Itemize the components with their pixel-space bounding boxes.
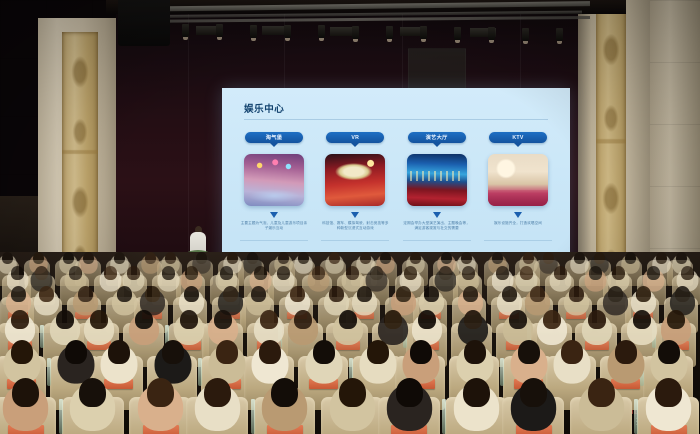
audience-member bbox=[346, 266, 359, 280]
audience-member bbox=[78, 286, 93, 302]
slide-card: VR 科技馆、赛车、模拟驾驶、射击竞技等多种新型沉浸式互动游戏 bbox=[319, 132, 391, 272]
water-bottle bbox=[251, 399, 255, 433]
seat-placard bbox=[8, 425, 44, 434]
audience-member bbox=[2, 252, 13, 264]
water-bottle bbox=[47, 358, 51, 386]
audience-member bbox=[33, 252, 44, 264]
stage-light bbox=[454, 27, 461, 40]
audience-member bbox=[11, 286, 26, 302]
stage-light bbox=[420, 26, 427, 39]
audience-member bbox=[227, 252, 238, 264]
stage-light bbox=[182, 24, 189, 37]
audience-member bbox=[675, 286, 690, 302]
water-bottle bbox=[403, 325, 407, 348]
audience-member bbox=[204, 378, 231, 407]
audience-member bbox=[329, 252, 340, 264]
audience-member bbox=[329, 286, 344, 302]
indoor-playground-photo bbox=[244, 154, 304, 206]
audience-member bbox=[83, 252, 94, 264]
card-caption: 主要主题为气泡、儿童及儿童游乐项目亲子娱乐互动 bbox=[240, 221, 308, 231]
audience-member bbox=[608, 286, 623, 302]
audience-member bbox=[569, 286, 584, 302]
stage-light bbox=[556, 28, 563, 41]
performance-hall-photo bbox=[407, 154, 467, 206]
water-bottle bbox=[442, 399, 446, 433]
audience-member bbox=[615, 340, 637, 364]
backdrop-seam bbox=[188, 0, 189, 292]
down-arrow-icon bbox=[270, 212, 278, 218]
audience-member bbox=[589, 266, 602, 280]
slide-card: KTV 娱乐设施齐全，打造欢唱空间 bbox=[482, 132, 554, 272]
audience-member bbox=[145, 286, 160, 302]
ktv-room-photo bbox=[488, 154, 548, 206]
audience-member bbox=[636, 286, 651, 302]
stage-light bbox=[386, 26, 393, 39]
audience-member bbox=[360, 252, 371, 264]
seat-placard bbox=[267, 425, 303, 434]
seat-placard bbox=[336, 341, 360, 350]
audience-member bbox=[220, 266, 233, 280]
audience-member bbox=[518, 340, 540, 364]
audience-member bbox=[254, 266, 267, 280]
audience-member bbox=[543, 310, 561, 329]
audience-member bbox=[370, 266, 383, 280]
audience-member bbox=[461, 252, 472, 264]
audience-member bbox=[63, 252, 74, 264]
stage-light bbox=[284, 25, 291, 38]
audience-member bbox=[410, 340, 432, 364]
water-bottle bbox=[198, 358, 202, 386]
water-bottle bbox=[652, 325, 656, 348]
audience-member bbox=[410, 252, 421, 264]
card-label-pill: VR bbox=[326, 132, 384, 143]
audience-member bbox=[185, 266, 198, 280]
audience-member bbox=[633, 310, 651, 329]
audience-member bbox=[554, 266, 567, 280]
audience-member bbox=[464, 310, 482, 329]
card-caption: 娱乐设施齐全，打造欢唱空间 bbox=[484, 221, 552, 226]
audience-member bbox=[11, 310, 29, 329]
audience-member bbox=[655, 378, 682, 407]
audience-member bbox=[418, 310, 436, 329]
audience-seating bbox=[0, 252, 700, 434]
audience-member bbox=[79, 378, 106, 407]
audience-member bbox=[12, 378, 39, 407]
slide-card: 演艺大厅 定期会举办大型演艺演出、主题晚会等，满足游客观赏与社交的需要 bbox=[401, 132, 473, 272]
audience-member bbox=[380, 252, 391, 264]
conference-hall-photo: 娱乐中心 淘气堡 主要主题为气泡、儿童及儿童游乐项目亲子娱乐互动 VR bbox=[0, 0, 700, 434]
audience-member bbox=[339, 310, 357, 329]
audience-member bbox=[424, 286, 439, 302]
slide-card-row: 淘气堡 主要主题为气泡、儿童及儿童游乐项目亲子娱乐互动 VR 科技馆、赛车、模拟… bbox=[238, 132, 554, 272]
vr-experience-photo bbox=[325, 154, 385, 206]
audience-member bbox=[147, 378, 174, 407]
wall-texture bbox=[650, 0, 700, 292]
seat-placard bbox=[516, 425, 552, 434]
audience-member bbox=[339, 378, 366, 407]
audience-member bbox=[509, 310, 527, 329]
stage-light bbox=[488, 27, 495, 40]
audience-member bbox=[162, 266, 175, 280]
audience-member bbox=[588, 310, 606, 329]
seat-placard bbox=[611, 379, 640, 390]
audience-member bbox=[588, 378, 615, 407]
audience-member bbox=[223, 286, 238, 302]
audience-member bbox=[367, 340, 389, 364]
water-bottle bbox=[500, 358, 504, 386]
audience-member bbox=[463, 286, 478, 302]
audience-member bbox=[658, 340, 680, 364]
audience-member bbox=[681, 266, 694, 280]
right-wall bbox=[650, 0, 700, 292]
audience-member bbox=[180, 310, 198, 329]
card-divider bbox=[403, 240, 471, 241]
audience-member bbox=[127, 266, 140, 280]
audience-member bbox=[294, 310, 312, 329]
audience-member bbox=[396, 378, 423, 407]
carving-motif bbox=[62, 32, 98, 282]
audience-member bbox=[574, 252, 585, 264]
audience-member bbox=[612, 266, 625, 280]
audience-member bbox=[441, 252, 452, 264]
audience-member bbox=[165, 252, 176, 264]
audience-member bbox=[260, 310, 278, 329]
slide-title-underline bbox=[244, 119, 548, 120]
water-bottle bbox=[634, 399, 638, 433]
audience-member bbox=[145, 252, 156, 264]
audience-member bbox=[530, 286, 545, 302]
card-label-pill: 演艺大厅 bbox=[408, 132, 466, 143]
audience-member bbox=[271, 378, 298, 407]
card-label-pill: KTV bbox=[489, 132, 547, 143]
ceiling-speaker bbox=[118, 0, 170, 46]
audience-member bbox=[69, 266, 82, 280]
audience-member bbox=[676, 252, 687, 264]
audience-member bbox=[520, 266, 533, 280]
pill-tail bbox=[433, 143, 441, 147]
audience-member bbox=[625, 252, 636, 264]
audience-member bbox=[520, 378, 547, 407]
audience-member bbox=[502, 286, 517, 302]
card-caption: 科技馆、赛车、模拟驾驶、射击竞技等多种新型沉浸式互动游戏 bbox=[321, 221, 389, 231]
seat-placard bbox=[566, 312, 586, 319]
audience-member bbox=[543, 252, 554, 264]
audience-member bbox=[396, 286, 411, 302]
carving-motif bbox=[596, 4, 626, 290]
pill-tail bbox=[270, 143, 278, 147]
audience-member bbox=[561, 340, 583, 364]
down-arrow-icon bbox=[433, 212, 441, 218]
audience-member bbox=[656, 252, 667, 264]
stage-light bbox=[352, 26, 359, 39]
card-divider bbox=[321, 240, 389, 241]
audience-member bbox=[277, 266, 290, 280]
seat-placard bbox=[143, 425, 179, 434]
audience-member bbox=[290, 286, 305, 302]
audience-member bbox=[259, 340, 281, 364]
audience-member bbox=[313, 340, 335, 364]
audience-member bbox=[65, 340, 87, 364]
audience-member bbox=[278, 252, 289, 264]
stage-light bbox=[250, 25, 257, 38]
audience-member bbox=[196, 252, 207, 264]
water-bottle bbox=[40, 325, 44, 348]
audience-member bbox=[464, 340, 486, 364]
audience-member bbox=[439, 266, 452, 280]
seat-placard bbox=[309, 379, 338, 390]
audience-member bbox=[104, 266, 117, 280]
down-arrow-icon bbox=[351, 212, 359, 218]
pill-tail bbox=[351, 143, 359, 147]
audience-member bbox=[312, 266, 325, 280]
carved-stone-pillar-left bbox=[38, 18, 124, 292]
pillar-carving-left bbox=[62, 32, 98, 282]
audience-member bbox=[11, 340, 33, 364]
seat-placard bbox=[651, 425, 687, 434]
card-divider bbox=[240, 240, 308, 241]
down-arrow-icon bbox=[514, 212, 522, 218]
audience-member bbox=[492, 252, 503, 264]
seat-placard bbox=[585, 341, 609, 350]
water-bottle bbox=[59, 399, 63, 433]
stage-light bbox=[216, 24, 223, 37]
seat-placard bbox=[354, 312, 374, 319]
audience-member bbox=[647, 266, 660, 280]
audience-member bbox=[247, 252, 258, 264]
carved-stone-pillar-right bbox=[578, 0, 652, 292]
card-divider bbox=[484, 240, 552, 241]
audience-member bbox=[90, 310, 108, 329]
audience-member bbox=[114, 252, 125, 264]
audience-member bbox=[251, 286, 266, 302]
audience-member bbox=[298, 252, 309, 264]
audience-member bbox=[216, 340, 238, 364]
audience-member bbox=[135, 310, 153, 329]
seat-placard bbox=[391, 425, 427, 434]
stage-light bbox=[522, 28, 529, 41]
audience-member bbox=[667, 310, 685, 329]
audience-member bbox=[523, 252, 534, 264]
water-bottle bbox=[640, 358, 644, 386]
audience-member bbox=[56, 310, 74, 329]
audience-member bbox=[214, 310, 232, 329]
audience-member bbox=[357, 286, 372, 302]
slide-title: 娱乐中心 bbox=[244, 101, 284, 115]
audience-member bbox=[184, 286, 199, 302]
audience-member bbox=[11, 266, 24, 280]
audience-member bbox=[463, 378, 490, 407]
pill-tail bbox=[514, 143, 522, 147]
pillar-carving-right bbox=[596, 4, 626, 290]
audience-member bbox=[39, 286, 54, 302]
audience-member bbox=[404, 266, 417, 280]
slide-card: 淘气堡 主要主题为气泡、儿童及儿童游乐项目亲子娱乐互动 bbox=[238, 132, 310, 272]
audience-member bbox=[496, 266, 509, 280]
audience-member bbox=[35, 266, 48, 280]
seat-placard bbox=[104, 379, 133, 390]
audience-member bbox=[594, 252, 605, 264]
stage-light bbox=[318, 25, 325, 38]
audience-member bbox=[462, 266, 475, 280]
audience-member bbox=[162, 340, 184, 364]
audience-member bbox=[117, 286, 132, 302]
audience-member bbox=[108, 340, 130, 364]
card-label-pill: 淘气堡 bbox=[245, 132, 303, 143]
card-caption: 定期会举办大型演艺演出、主题晚会等，满足游客观赏与社交的需要 bbox=[403, 221, 471, 231]
audience-member bbox=[384, 310, 402, 329]
